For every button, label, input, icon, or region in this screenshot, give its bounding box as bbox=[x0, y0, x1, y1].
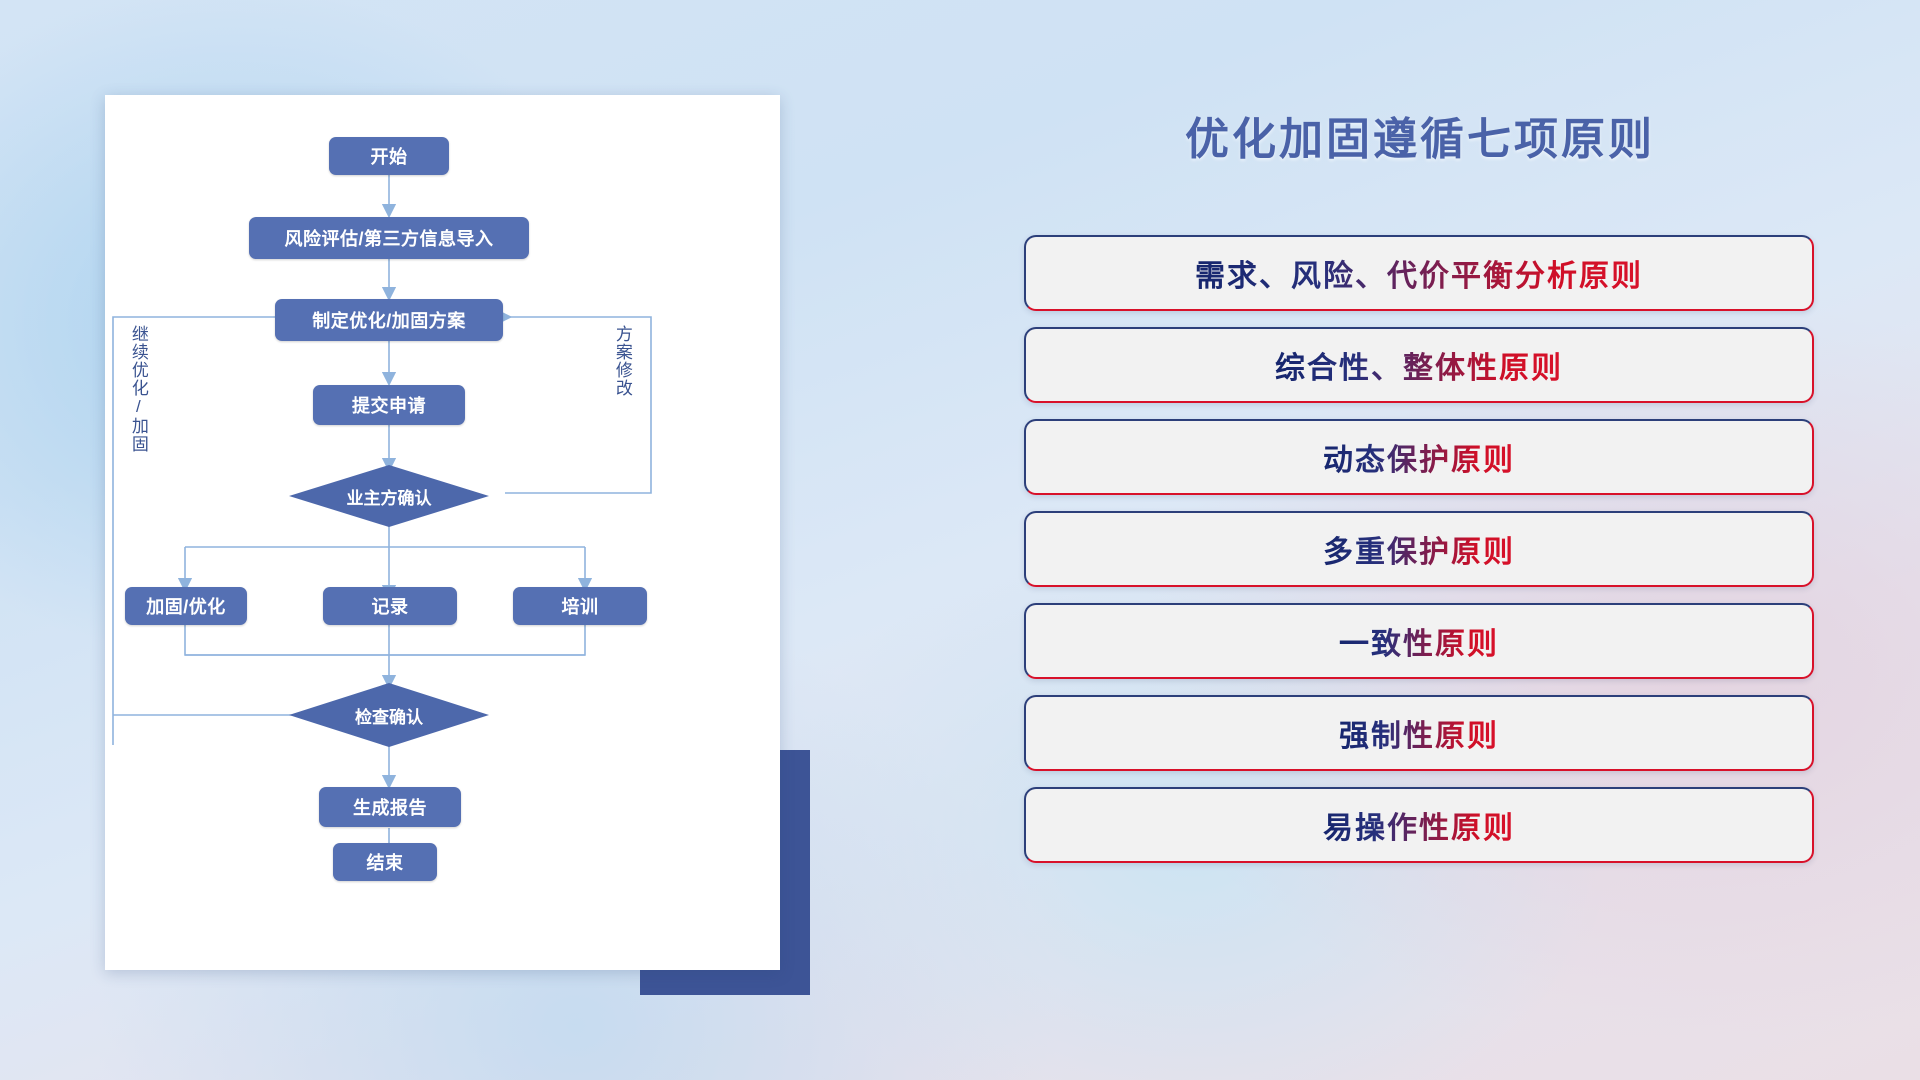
flow-node-submit-application[interactable]: 提交申请 bbox=[313, 385, 465, 425]
flow-node-label: 制定优化/加固方案 bbox=[312, 307, 466, 333]
flow-node-generate-report[interactable]: 生成报告 bbox=[319, 787, 461, 827]
flow-node-plan[interactable]: 制定优化/加固方案 bbox=[275, 299, 503, 341]
flow-node-end[interactable]: 结束 bbox=[333, 843, 437, 881]
principle-card-7[interactable]: 易操作性原则 bbox=[1024, 787, 1814, 863]
flow-edge-label-plan-revision: 方案修改 bbox=[613, 325, 631, 397]
flow-node-label: 培训 bbox=[562, 593, 599, 619]
principle-label: 需求、风险、代价平衡分析原则 bbox=[1195, 251, 1643, 295]
flow-node-label: 生成报告 bbox=[353, 794, 427, 820]
principle-label: 强制性原则 bbox=[1339, 711, 1499, 755]
flow-node-label: 检查确认 bbox=[355, 703, 423, 728]
principle-card-6[interactable]: 强制性原则 bbox=[1024, 695, 1814, 771]
flow-node-start[interactable]: 开始 bbox=[329, 137, 449, 175]
flowchart-card: 开始 风险评估/第三方信息导入 制定优化/加固方案 提交申请 业主方确认 加固/… bbox=[105, 95, 780, 970]
principle-label: 动态保护原则 bbox=[1323, 435, 1515, 479]
flow-node-risk-assessment[interactable]: 风险评估/第三方信息导入 bbox=[249, 217, 529, 259]
principle-label: 易操作性原则 bbox=[1323, 803, 1515, 847]
flow-node-label: 开始 bbox=[371, 143, 408, 169]
principle-label: 一致性原则 bbox=[1339, 619, 1499, 663]
principles-list: 需求、风险、代价平衡分析原则 综合性、整体性原则 动态保护原则 多重保护原则 一… bbox=[1024, 235, 1814, 879]
flow-node-label: 业主方确认 bbox=[347, 484, 432, 509]
slide-canvas: 开始 风险评估/第三方信息导入 制定优化/加固方案 提交申请 业主方确认 加固/… bbox=[0, 0, 1920, 1080]
principle-card-5[interactable]: 一致性原则 bbox=[1024, 603, 1814, 679]
principle-card-3[interactable]: 动态保护原则 bbox=[1024, 419, 1814, 495]
principle-card-2[interactable]: 综合性、整体性原则 bbox=[1024, 327, 1814, 403]
flow-node-reinforce-optimize[interactable]: 加固/优化 bbox=[125, 587, 247, 625]
principle-card-4[interactable]: 多重保护原则 bbox=[1024, 511, 1814, 587]
principles-title: 优化加固遵循七项原则 bbox=[1020, 103, 1820, 167]
flow-node-label: 风险评估/第三方信息导入 bbox=[285, 225, 494, 251]
principle-label: 多重保护原则 bbox=[1323, 527, 1515, 571]
principle-label: 综合性、整体性原则 bbox=[1275, 343, 1563, 387]
principle-card-1[interactable]: 需求、风险、代价平衡分析原则 bbox=[1024, 235, 1814, 311]
flow-edge-label-continue-optimize: 继续优化/加固 bbox=[129, 325, 147, 453]
flow-node-label: 结束 bbox=[367, 849, 404, 875]
flow-node-label: 加固/优化 bbox=[146, 593, 226, 619]
flow-node-training[interactable]: 培训 bbox=[513, 587, 647, 625]
flow-node-label: 提交申请 bbox=[352, 392, 426, 418]
flow-node-record[interactable]: 记录 bbox=[323, 587, 457, 625]
flow-node-label: 记录 bbox=[372, 593, 409, 619]
